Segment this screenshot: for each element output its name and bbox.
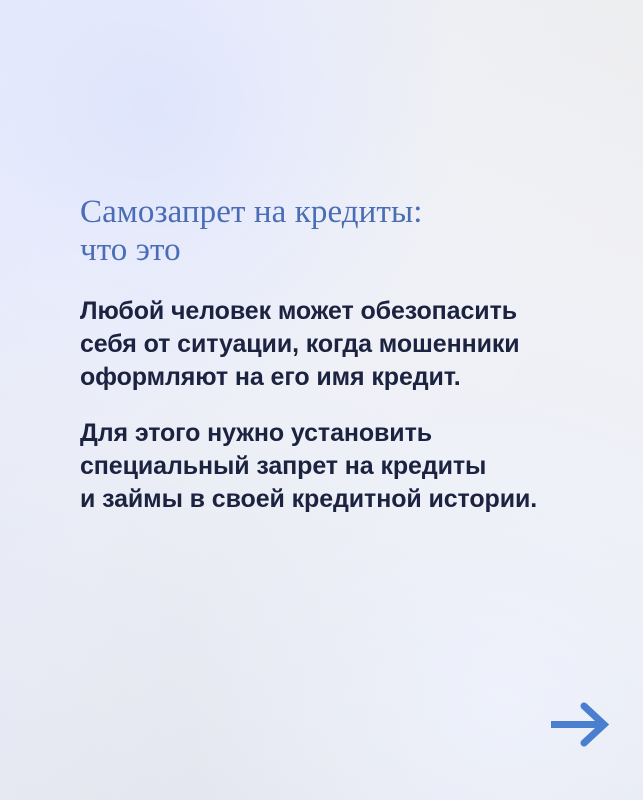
page-title: Самозапрет на кредиты: что это: [80, 193, 580, 269]
arrow-right-icon: [549, 701, 611, 749]
next-slide-button[interactable]: [549, 701, 611, 749]
body-paragraph-1: Любой человек может обезопасить себя от …: [80, 295, 580, 394]
slide-content: Самозапрет на кредиты: что это Любой чел…: [80, 193, 580, 516]
body-paragraph-2: Для этого нужно установить специальный з…: [80, 417, 580, 516]
info-slide: Самозапрет на кредиты: что это Любой чел…: [0, 0, 643, 800]
